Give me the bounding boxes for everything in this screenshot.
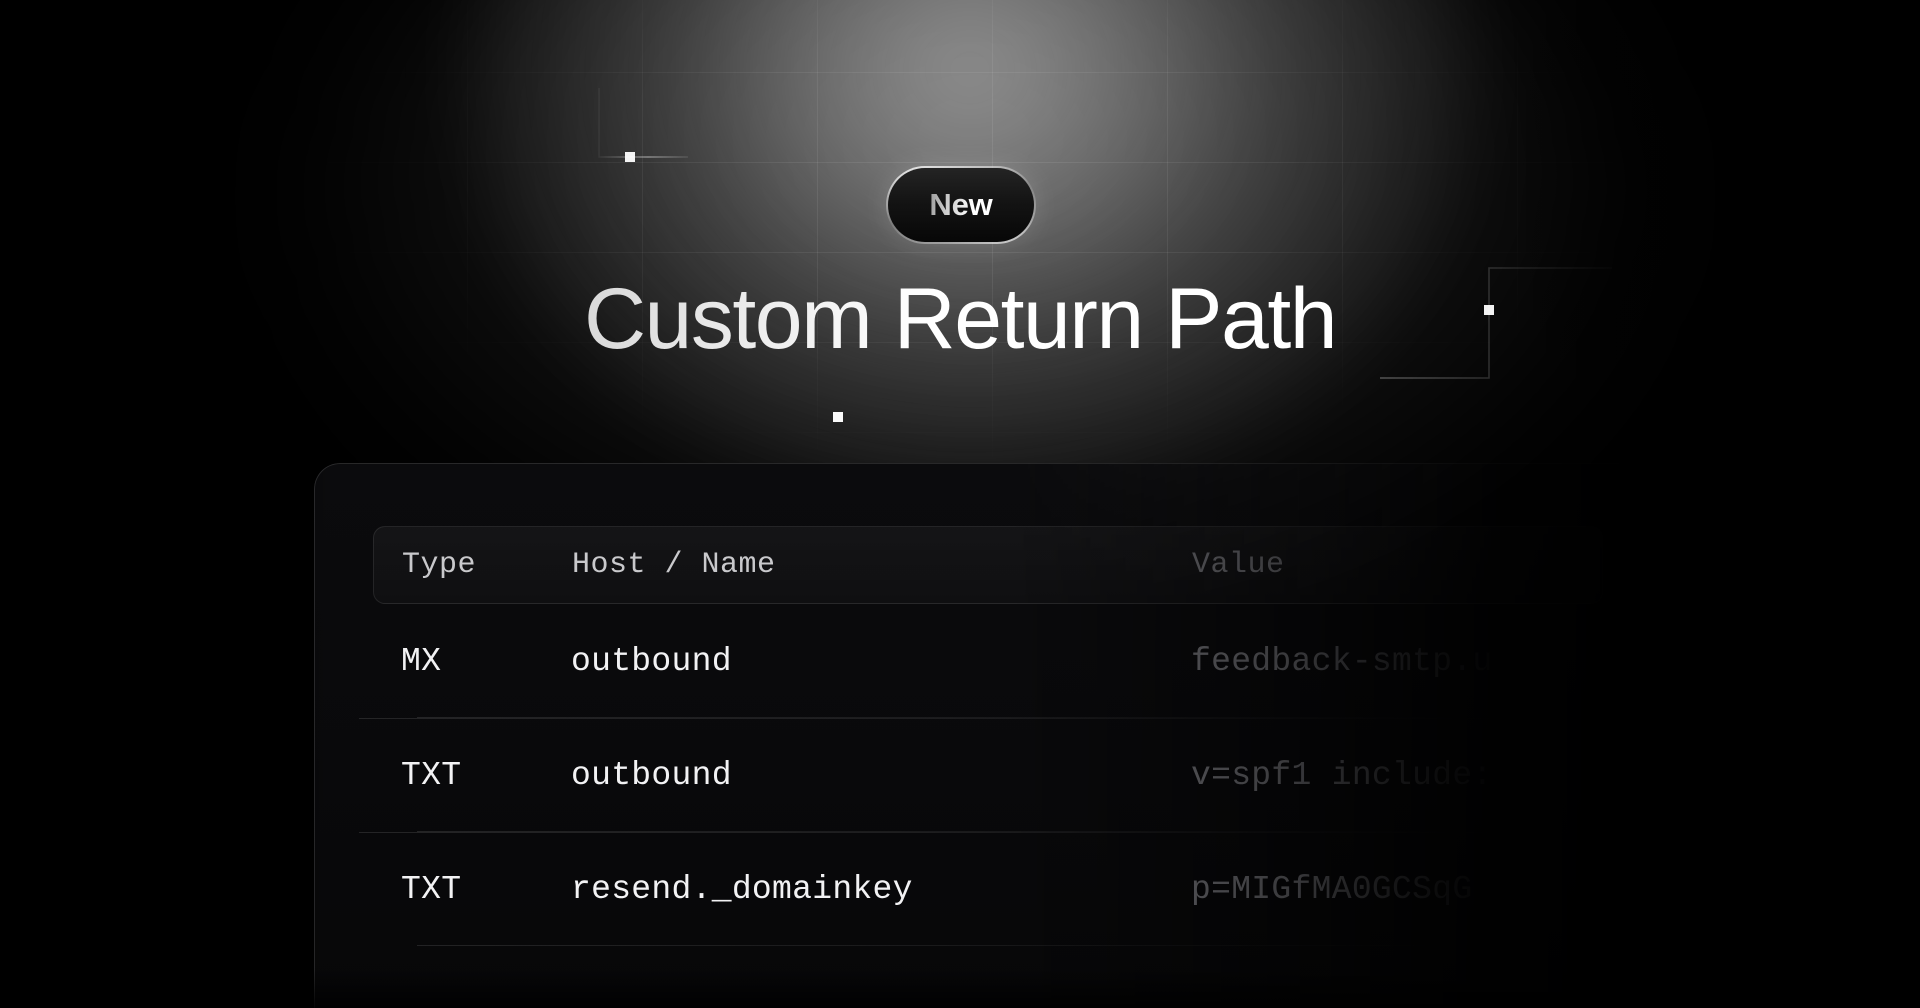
cell-record-type: TXT <box>373 871 571 908</box>
cell-record-host: outbound <box>571 643 1191 680</box>
hero-banner: New Custom Return Path Type Host / Name … <box>0 0 1920 1008</box>
cell-record-host: outbound <box>571 757 1191 794</box>
circuit-node-icon <box>833 412 843 422</box>
new-badge: New <box>886 166 1036 244</box>
cell-record-value: feedback-smtp.u <box>1191 643 1603 680</box>
page-title: Custom Return Path <box>0 273 1920 366</box>
new-badge-inner: New <box>888 168 1034 242</box>
table-header-row: Type Host / Name Value <box>373 526 1603 604</box>
circuit-node-icon <box>625 152 635 162</box>
column-header-value: Value <box>1192 548 1602 582</box>
column-header-host: Host / Name <box>572 548 1192 582</box>
left-vignette <box>0 0 340 1008</box>
cell-record-value: p=MIGfMA0GCSqG <box>1191 871 1603 908</box>
new-badge-border: New <box>886 166 1036 244</box>
column-header-type: Type <box>374 548 572 582</box>
table-row[interactable]: TXT outbound v=spf1 include: <box>373 718 1603 832</box>
cell-record-value: v=spf1 include: <box>1191 757 1603 794</box>
table-row[interactable]: TXT resend._domainkey p=MIGfMA0GCSqG <box>373 832 1603 946</box>
row-divider <box>417 945 1557 946</box>
dns-records-card: Type Host / Name Value MX outbound feedb… <box>314 463 1649 1008</box>
new-badge-label: New <box>929 187 992 223</box>
cell-record-type: TXT <box>373 757 571 794</box>
table-row[interactable]: MX outbound feedback-smtp.u <box>373 604 1603 718</box>
spotlight-glow <box>470 0 1470 500</box>
cell-record-host: resend._domainkey <box>571 871 1191 908</box>
cell-record-type: MX <box>373 643 571 680</box>
dns-records-table: Type Host / Name Value MX outbound feedb… <box>373 526 1603 946</box>
trace-upper-left <box>599 88 688 250</box>
circuit-traces <box>0 0 1920 520</box>
